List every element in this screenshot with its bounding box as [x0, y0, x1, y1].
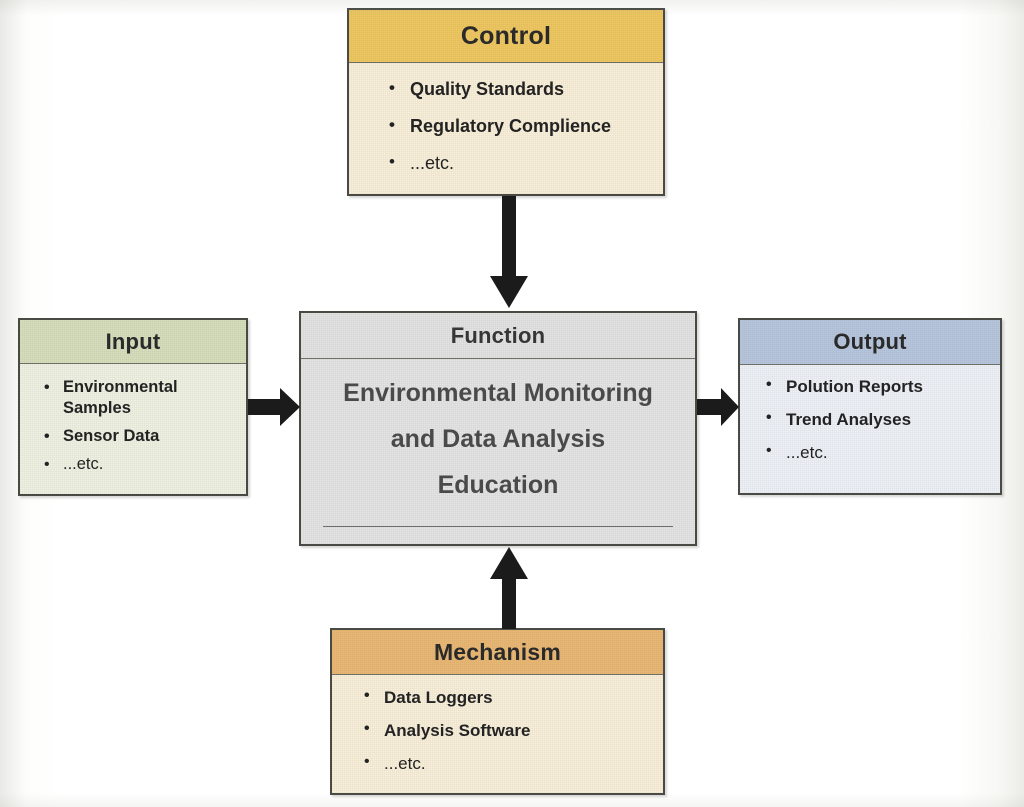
- control-box-body: Quality Standards Regulatory Complience …: [349, 63, 663, 194]
- arrow-down-control-to-function-icon: [487, 196, 531, 312]
- control-item: ...etc.: [389, 153, 663, 174]
- input-item: Environmental Samples: [44, 377, 238, 419]
- function-box: Function Environmental Monitoring and Da…: [299, 311, 697, 546]
- function-divider-rule: [323, 526, 673, 527]
- control-box-title: Control: [349, 10, 663, 63]
- output-item-list: Polution Reports Trend Analyses ...etc.: [766, 377, 992, 463]
- input-box-title: Input: [20, 320, 246, 364]
- output-item: ...etc.: [766, 443, 992, 463]
- diagram-canvas: Control Quality Standards Regulatory Com…: [0, 0, 1024, 807]
- arrow-right-input-to-function-icon: [248, 386, 301, 428]
- input-item-list: Environmental Samples Sensor Data ...etc…: [44, 377, 238, 475]
- control-item-list: Quality Standards Regulatory Complience …: [389, 79, 663, 174]
- input-box: Input Environmental Samples Sensor Data …: [18, 318, 248, 496]
- input-box-body: Environmental Samples Sensor Data ...etc…: [20, 364, 246, 494]
- control-item: Regulatory Complience: [389, 116, 663, 137]
- function-box-title: Function: [301, 313, 695, 359]
- arrow-right-function-to-output-icon: [697, 386, 740, 428]
- mechanism-item: Data Loggers: [364, 688, 663, 708]
- output-item: Trend Analyses: [766, 410, 992, 430]
- arrow-up-mechanism-to-function-icon: [487, 547, 531, 629]
- output-box-body: Polution Reports Trend Analyses ...etc.: [740, 365, 1000, 493]
- output-item: Polution Reports: [766, 377, 992, 397]
- mechanism-box-title: Mechanism: [332, 630, 663, 675]
- function-box-body: Environmental Monitoring and Data Analys…: [301, 359, 695, 544]
- mechanism-box-body: Data Loggers Analysis Software ...etc.: [332, 675, 663, 793]
- mechanism-item: ...etc.: [364, 754, 663, 774]
- mechanism-box: Mechanism Data Loggers Analysis Software…: [330, 628, 665, 795]
- mechanism-item-list: Data Loggers Analysis Software ...etc.: [364, 688, 663, 774]
- control-item: Quality Standards: [389, 79, 663, 100]
- function-name-text: Environmental Monitoring and Data Analys…: [328, 370, 668, 508]
- control-box: Control Quality Standards Regulatory Com…: [347, 8, 665, 196]
- mechanism-item: Analysis Software: [364, 721, 663, 741]
- output-box: Output Polution Reports Trend Analyses .…: [738, 318, 1002, 495]
- input-item: Sensor Data: [44, 426, 238, 447]
- input-item: ...etc.: [44, 454, 238, 475]
- output-box-title: Output: [740, 320, 1000, 365]
